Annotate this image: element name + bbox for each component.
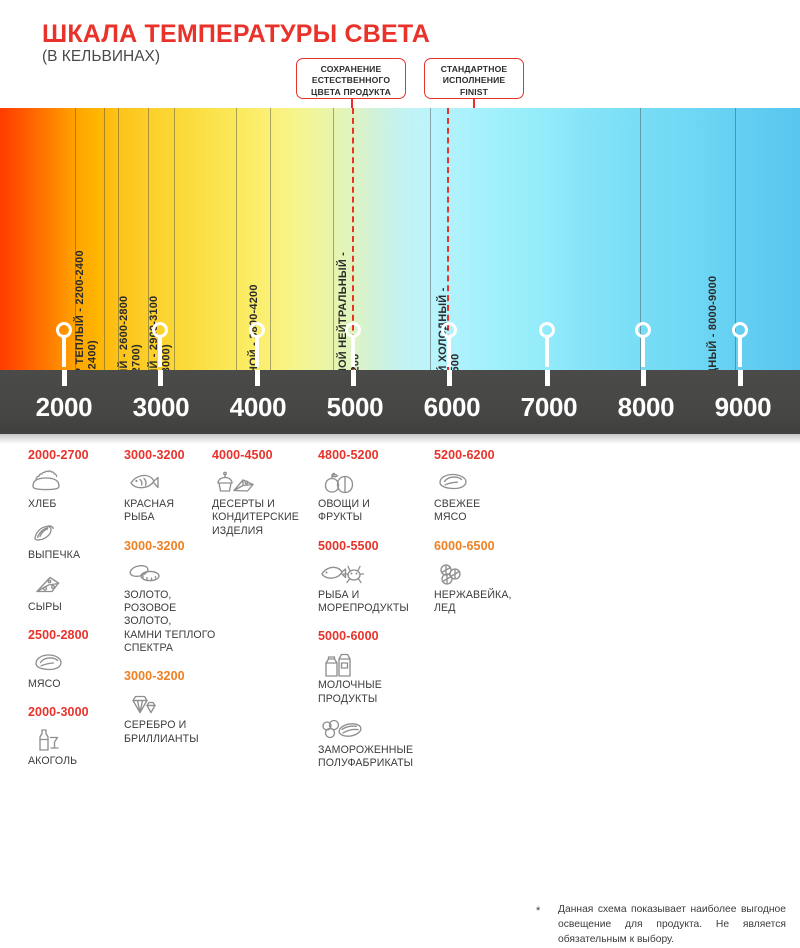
- scale-tick: [351, 370, 356, 386]
- legend-group: 2000-2700ХЛЕБВЫПЕЧКАСЫРЫ: [28, 448, 126, 614]
- legend-item: СЫРЫ: [28, 573, 126, 614]
- legend-item: НЕРЖАВЕЙКА,ЛЕД: [434, 561, 530, 616]
- pin-head: [152, 322, 168, 338]
- scale-bar-shadow: [0, 434, 800, 444]
- legend-group: 3000-3200ЗОЛОТО,РОЗОВОЕ ЗОЛОТО,КАМНИ ТЕП…: [124, 539, 220, 656]
- legend-item: ХЛЕБ: [28, 470, 126, 511]
- legend-group: 4800-5200ОВОЩИ ИФРУКТЫ: [318, 448, 428, 525]
- band-divider: [104, 108, 105, 370]
- legend-item: ОВОЩИ ИФРУКТЫ: [318, 470, 428, 525]
- scale-tick: [447, 370, 452, 386]
- dessert-icon: [212, 470, 316, 496]
- legend-item-label: СЕРЕБРО ИБРИЛЛИАНТЫ: [124, 719, 220, 746]
- pin-head: [249, 322, 265, 338]
- band-divider: [270, 108, 271, 370]
- legend-group: 2000-3000АКОГОЛЬ: [28, 705, 126, 768]
- band-divider: [333, 108, 334, 370]
- legend-item: КРАСНАЯРЫБА: [124, 470, 220, 525]
- gold-rings-icon: [124, 561, 220, 587]
- legend-item: АКОГОЛЬ: [28, 727, 126, 768]
- legend-group: 3000-3200КРАСНАЯРЫБА: [124, 448, 220, 525]
- legend-item-label: ВЫПЕЧКА: [28, 549, 126, 562]
- ice-steel-icon: [434, 561, 530, 587]
- legend-item: ВЫПЕЧКА: [28, 521, 126, 562]
- cheese-icon: [28, 573, 126, 599]
- band-label-line: СУПЕР ТЕПЛЫЙ - 2200-2400: [74, 250, 86, 370]
- scale-value-5000: 5000: [327, 392, 384, 423]
- header: ШКАЛА ТЕМПЕРАТУРЫ СВЕТА (В КЕЛЬВИНАХ) СО…: [0, 0, 800, 108]
- legend-range-label: 2500-2800: [28, 628, 126, 642]
- legend-range-label: 6000-6500: [434, 539, 530, 553]
- scale-value-7000: 7000: [521, 392, 578, 423]
- kelvin-scale-bar: 2000 3000 4000 5000 6000 7000 8000 9000: [0, 370, 800, 434]
- scale-value-4000: 4000: [230, 392, 287, 423]
- legend-item-label: НЕРЖАВЕЙКА,ЛЕД: [434, 589, 530, 616]
- pin-head: [732, 322, 748, 338]
- legend-range-label: 5000-6000: [318, 629, 428, 643]
- infographic-root: ШКАЛА ТЕМПЕРАТУРЫ СВЕТА (В КЕЛЬВИНАХ) СО…: [0, 0, 800, 800]
- legend-item-label: МЯСО: [28, 678, 126, 691]
- callout-line: ЕСТЕСТВЕННОГО: [301, 75, 401, 86]
- scale-value-6000: 6000: [424, 392, 481, 423]
- legend-group: 4000-4500ДЕСЕРТЫ ИКОНДИТЕРСКИЕИЗДЕЛИЯ: [212, 448, 316, 538]
- legend-range-label: 3000-3200: [124, 448, 220, 462]
- legend-column-3: 4000-4500ДЕСЕРТЫ ИКОНДИТЕРСКИЕИЗДЕЛИЯ: [212, 448, 316, 552]
- pin-stem: [351, 337, 355, 367]
- bread-icon: [28, 470, 126, 496]
- fresh-meat-icon: [434, 470, 530, 496]
- band-label-line: ТЕПЛЫЙ - 2600-2800: [118, 296, 130, 370]
- legend-item-label: КРАСНАЯРЫБА: [124, 498, 220, 525]
- legend-group: 5000-6000МОЛОЧНЫЕ ПРОДУКТЫЗАМОРОЖЕННЫЕПО…: [318, 629, 428, 770]
- pin-stem: [62, 337, 66, 367]
- dairy-icon: [318, 651, 428, 677]
- legend-group: 5000-5500РЫБА ИМОРЕПРОДУКТЫ: [318, 539, 428, 616]
- scale-value-9000: 9000: [715, 392, 772, 423]
- legend: 2000-2700ХЛЕБВЫПЕЧКАСЫРЫ2500-2800МЯСО200…: [0, 448, 800, 800]
- band-label-sub: 5800-6500: [449, 354, 461, 370]
- legend-item-label: АКОГОЛЬ: [28, 755, 126, 768]
- scale-tick: [641, 370, 646, 386]
- meat-icon: [28, 650, 126, 676]
- pin-stem: [447, 337, 451, 367]
- scale-tick: [545, 370, 550, 386]
- fruit-vegetable-icon: [318, 470, 428, 496]
- pin-stem: [255, 337, 259, 367]
- legend-column-4: 4800-5200ОВОЩИ ИФРУКТЫ5000-5500РЫБА ИМОР…: [318, 448, 428, 785]
- legend-item-label: СВЕЖЕЕМЯСО: [434, 498, 530, 525]
- callout-line: FINIST: [429, 87, 519, 98]
- footnote: * Данная схема показывает наиболее выгод…: [536, 903, 786, 948]
- pin-head: [441, 322, 457, 338]
- legend-column-5: 5200-6200СВЕЖЕЕМЯСО6000-6500НЕРЖАВЕЙКА,Л…: [434, 448, 530, 629]
- legend-range-label: 3000-3200: [124, 669, 220, 683]
- legend-range-label: 3000-3200: [124, 539, 220, 553]
- callout-natural-color: СОХРАНЕНИЕ ЕСТЕСТВЕННОГО ЦВЕТА ПРОДУКТА: [296, 58, 406, 99]
- legend-group: 6000-6500НЕРЖАВЕЙКА,ЛЕД: [434, 539, 530, 616]
- band-divider: [430, 108, 431, 370]
- legend-item: ЗАМОРОЖЕННЫЕПОЛУФАБРИКАТЫ: [318, 716, 428, 771]
- pin-stem: [738, 337, 742, 367]
- legend-item: МОЛОЧНЫЕ ПРОДУКТЫ: [318, 651, 428, 706]
- pin-head: [635, 322, 651, 338]
- scale-value-3000: 3000: [133, 392, 190, 423]
- temperature-spectrum-bar: СУПЕР ТЕПЛЫЙ - 2200-2400(тип К 2400) ТЕП…: [0, 108, 800, 370]
- legend-item-label: МОЛОЧНЫЕ ПРОДУКТЫ: [318, 679, 428, 706]
- pin-head: [56, 322, 72, 338]
- legend-item: РЫБА ИМОРЕПРОДУКТЫ: [318, 561, 428, 616]
- pin-head: [539, 322, 555, 338]
- legend-column-2: 3000-3200КРАСНАЯРЫБА3000-3200ЗОЛОТО,РОЗО…: [124, 448, 220, 760]
- band-label-sub: (тип К 2400): [86, 340, 98, 370]
- legend-range-label: 4800-5200: [318, 448, 428, 462]
- pin-stem: [158, 337, 162, 367]
- legend-group: 5200-6200СВЕЖЕЕМЯСО: [434, 448, 530, 525]
- callout-line: ИСПОЛНЕНИЕ: [429, 75, 519, 86]
- pin-head: [345, 322, 361, 338]
- legend-item-label: ХЛЕБ: [28, 498, 126, 511]
- legend-range-label: 5200-6200: [434, 448, 530, 462]
- alcohol-icon: [28, 727, 126, 753]
- legend-item-label: ЗОЛОТО,РОЗОВОЕ ЗОЛОТО,КАМНИ ТЕПЛОГОСПЕКТ…: [124, 589, 220, 656]
- legend-item-label: РЫБА ИМОРЕПРОДУКТЫ: [318, 589, 428, 616]
- scale-tick: [255, 370, 260, 386]
- legend-range-label: 2000-3000: [28, 705, 126, 719]
- legend-column-1: 2000-2700ХЛЕБВЫПЕЧКАСЫРЫ2500-2800МЯСО200…: [28, 448, 126, 783]
- scale-value-8000: 8000: [618, 392, 675, 423]
- callout-line: ЦВЕТА ПРОДУКТА: [301, 87, 401, 98]
- band-label-super-warm: СУПЕР ТЕПЛЫЙ - 2200-2400(тип К 2400): [74, 236, 99, 370]
- pin-stem: [641, 337, 645, 367]
- callout-standard-finist: СТАНДАРТНОЕ ИСПОЛНЕНИЕ FINIST: [424, 58, 524, 99]
- legend-group: 2500-2800МЯСО: [28, 628, 126, 691]
- legend-item-label: ОВОЩИ ИФРУКТЫ: [318, 498, 428, 525]
- legend-item: МЯСО: [28, 650, 126, 691]
- callout-line: СОХРАНЕНИЕ: [301, 64, 401, 75]
- band-label-line: ХОЛОДНЫЙ - 8000-9000: [707, 276, 719, 370]
- red-fish-icon: [124, 470, 220, 496]
- band-divider: [236, 108, 237, 370]
- scale-tick: [158, 370, 163, 386]
- pin-stem: [545, 337, 549, 367]
- legend-item: ЗОЛОТО,РОЗОВОЕ ЗОЛОТО,КАМНИ ТЕПЛОГОСПЕКТ…: [124, 561, 220, 656]
- scale-value-2000: 2000: [36, 392, 93, 423]
- frozen-food-icon: [318, 716, 428, 742]
- legend-item-label: ЗАМОРОЖЕННЫЕПОЛУФАБРИКАТЫ: [318, 744, 428, 771]
- band-label-sub: (тип К 2700): [130, 344, 142, 370]
- legend-range-label: 4000-4500: [212, 448, 316, 462]
- band-label-sub: (тип К 3000): [160, 344, 172, 370]
- footnote-star: *: [536, 904, 540, 920]
- legend-group: 3000-3200СЕРЕБРО ИБРИЛЛИАНТЫ: [124, 669, 220, 746]
- page-subtitle: (В КЕЛЬВИНАХ): [42, 48, 160, 66]
- band-label-line: ДНЕВНОЙ НЕЙТРАЛЬНЫЙ -: [337, 252, 349, 370]
- legend-item: СЕРЕБРО ИБРИЛЛИАНТЫ: [124, 691, 220, 746]
- callout-line: СТАНДАРТНОЕ: [429, 64, 519, 75]
- seafood-icon: [318, 561, 428, 587]
- band-divider: [174, 108, 175, 370]
- band-label-cold: ХОЛОДНЫЙ - 8000-9000: [707, 258, 719, 370]
- footnote-text: Данная схема показывает наиболее выгодно…: [558, 903, 786, 948]
- legend-item: СВЕЖЕЕМЯСО: [434, 470, 530, 525]
- band-label-warm-2700: ТЕПЛЫЙ - 2600-2800(тип К 2700): [118, 270, 143, 370]
- scale-tick: [62, 370, 67, 386]
- legend-item: ДЕСЕРТЫ ИКОНДИТЕРСКИЕИЗДЕЛИЯ: [212, 470, 316, 538]
- legend-range-label: 2000-2700: [28, 448, 126, 462]
- pastry-icon: [28, 521, 126, 547]
- scale-tick: [738, 370, 743, 386]
- legend-item-label: СЫРЫ: [28, 601, 126, 614]
- page-title: ШКАЛА ТЕМПЕРАТУРЫ СВЕТА: [42, 20, 430, 49]
- legend-item-label: ДЕСЕРТЫ ИКОНДИТЕРСКИЕИЗДЕЛИЯ: [212, 498, 316, 538]
- band-label-daylight-neutral: ДНЕВНОЙ НЕЙТРАЛЬНЫЙ -4800-5200: [337, 218, 362, 370]
- diamond-icon: [124, 691, 220, 717]
- legend-range-label: 5000-5500: [318, 539, 428, 553]
